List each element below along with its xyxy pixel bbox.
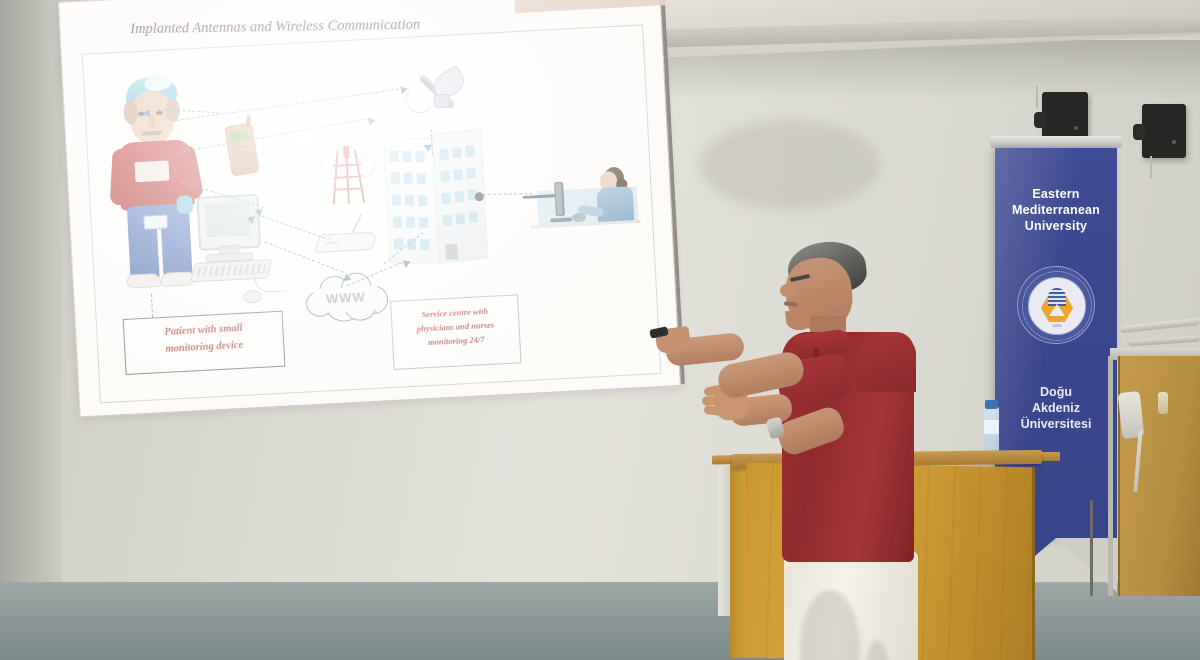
cabinet-edge [1108,356,1113,596]
screen-surface: PROF. A.H. ALSHAER Implanted Antennas an… [58,0,681,417]
projection-screen: PROF. A.H. ALSHAER Implanted Antennas an… [58,0,679,419]
bottle-label [984,420,999,434]
wall-speaker-right [1142,104,1186,158]
cabinet-latch[interactable] [1158,392,1168,414]
presenter-trousers [784,550,918,660]
speaker-bracket-left [1034,112,1046,128]
arrowhead-to-patient [143,109,150,117]
diagram-desktop-computer [196,192,301,293]
diagram-wireless-router [314,217,386,261]
banner-pole [990,136,1122,148]
floor-cable [1090,500,1093,596]
speaker-wire-left [1036,86,1038,108]
slide-header-band [514,0,665,13]
diagram-cell-tower [326,145,369,205]
banner-tr-line3: Üniversitesi [999,416,1113,432]
patient-monitoring-device-icon [143,215,168,230]
presenter-shoulder [856,336,916,392]
university-seal-icon: 1979 [1017,266,1095,344]
banner-turkish-name: Doğu Akdeniz Üniversitesi [999,384,1113,432]
banner-tr-line1: Doğu [999,384,1113,400]
arrowhead-to-tower [368,116,377,125]
link-patient-to-satellite [176,88,404,121]
label-patient-box: Patient with small monitoring device [123,311,286,375]
lecture-hall-screenshot: PROF. A.H. ALSHAER Implanted Antennas an… [0,0,1200,660]
diagram-satellite [402,64,475,134]
banner-en-line2: Mediterranean [999,202,1113,218]
arrowhead-satellite-down [424,145,432,152]
presenter [660,236,960,660]
banner-english-name: Eastern Mediterranean University [999,186,1113,234]
slide-diagram: WWW [82,24,662,403]
diagram-patient [106,67,209,292]
seal-year: 1979 [1045,323,1069,328]
presenter-mouth [784,301,798,306]
arrowhead-to-satellite [400,85,408,94]
wall-left-panel [0,0,62,648]
speaker-wire-right [1150,156,1152,178]
speaker-bracket-right [1133,124,1145,140]
diagram-hospital-building [383,130,486,263]
banner-en-line3: University [999,218,1113,234]
wall-smudge [700,120,880,210]
bottle-cap [985,400,998,409]
diagram-nurse-workstation [521,164,645,250]
banner-en-line1: Eastern [999,186,1113,202]
label-service-centre-box: Service centre with physicians and nurse… [390,294,521,370]
banner-tr-line2: Akdeniz [999,400,1113,416]
presenter-nose [780,284,794,297]
presenter-ear [828,288,842,305]
